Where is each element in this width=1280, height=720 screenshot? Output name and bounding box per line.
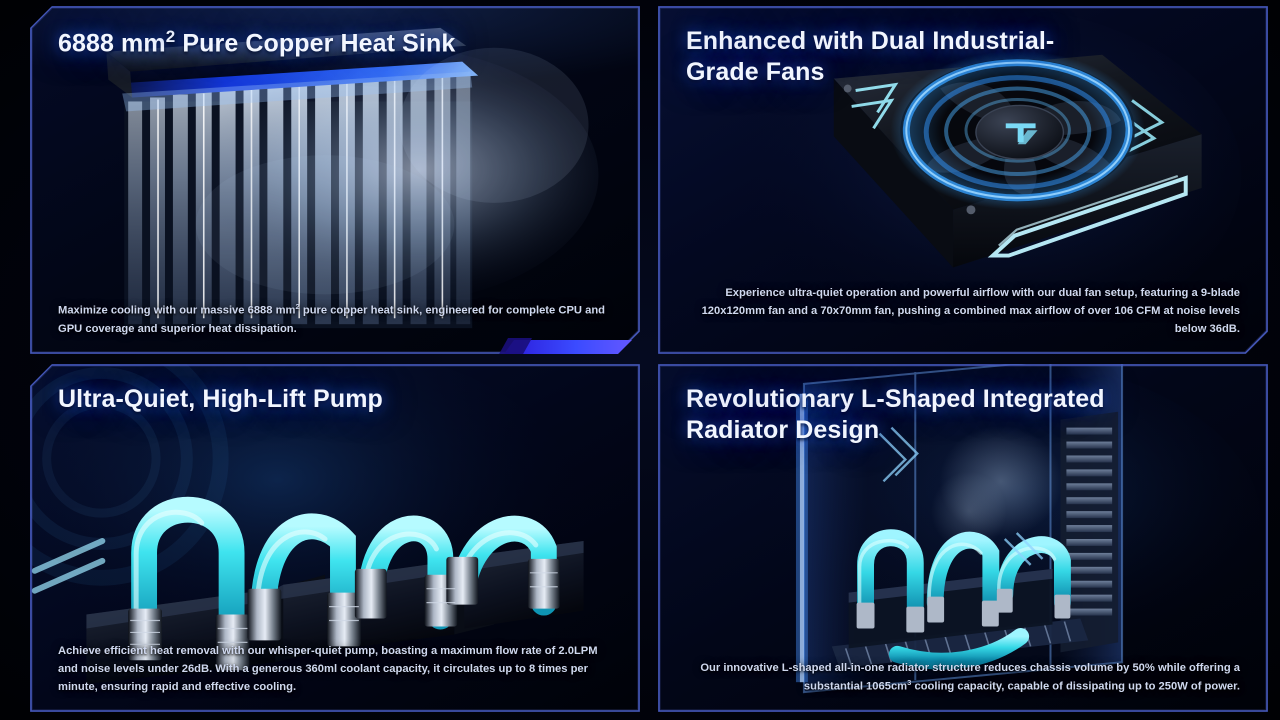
feature-panel-pump[interactable]: Ultra-Quiet, High-Lift Pump Achieve effi… [30, 364, 640, 712]
panel-body-radiator: Our innovative L-shaped all-in-one radia… [686, 659, 1240, 696]
feature-panel-radiator[interactable]: Revolutionary L-Shaped Integrated Radiat… [658, 364, 1268, 712]
feature-panel-heat-sink[interactable]: 6888 mm2 Pure Copper Heat Sink Maximize … [30, 6, 640, 354]
panel-heading-dual-fans: Enhanced with Dual Industrial- Grade Fan… [686, 26, 1125, 89]
panel-body-pump: Achieve efficient heat removal with our … [58, 642, 612, 696]
panel-heading-radiator: Revolutionary L-Shaped Integrated Radiat… [686, 384, 1125, 447]
panel-heading-heat-sink: 6888 mm2 Pure Copper Heat Sink [58, 26, 497, 60]
feature-grid-page: 6888 mm2 Pure Copper Heat Sink Maximize … [0, 0, 1280, 720]
panel-body-dual-fans: Experience ultra-quiet operation and pow… [686, 284, 1240, 338]
panel-body-heat-sink: Maximize cooling with our massive 6888 m… [58, 301, 612, 338]
panel-heading-pump: Ultra-Quiet, High-Lift Pump [58, 384, 497, 415]
feature-panel-dual-fans[interactable]: Enhanced with Dual Industrial- Grade Fan… [658, 6, 1268, 354]
panel-grid: 6888 mm2 Pure Copper Heat Sink Maximize … [0, 0, 1280, 720]
